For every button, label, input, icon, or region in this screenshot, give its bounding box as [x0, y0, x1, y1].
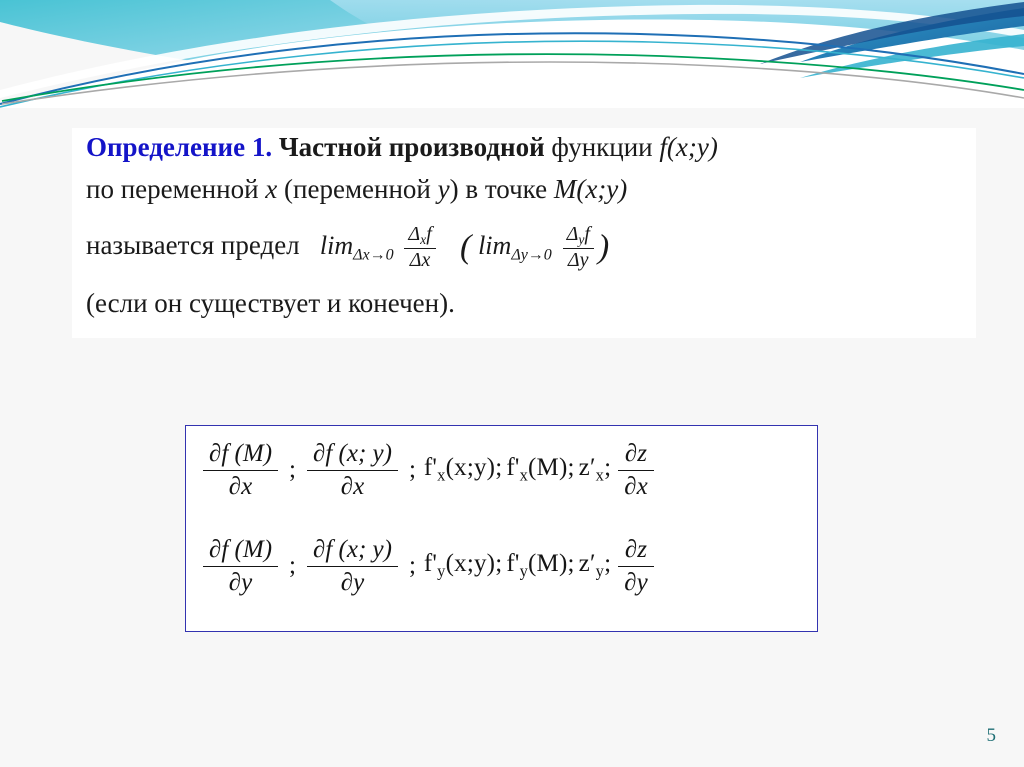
notation-z-prime-x: z′x;	[579, 454, 612, 485]
f-prime-base: f'	[506, 454, 519, 481]
partial-z-over-x: ∂z ∂x	[618, 440, 653, 500]
delta-symbol: Δ	[408, 223, 420, 245]
f-prime-base: f'	[424, 454, 437, 481]
variable-y: y	[438, 174, 450, 204]
separator-semicolon: ;	[405, 456, 420, 484]
fraction-numerator: ∂f (M)	[203, 536, 278, 567]
delta-symbol: Δ	[567, 223, 579, 245]
fraction-delta-x: Δxf Δx	[404, 224, 435, 271]
notation-row-y: ∂f (M) ∂y ; ∂f (x; y) ∂y ; f'y(x;y); f'y…	[200, 536, 657, 596]
subscript-y: y	[520, 562, 528, 581]
fraction-denominator: ∂x	[618, 471, 653, 501]
partial-f-M-over-x: ∂f (M) ∂x	[203, 440, 278, 500]
f-prime-base: f'	[506, 550, 519, 577]
definition-line2-before: по переменной	[86, 174, 259, 204]
fraction-denominator: ∂y	[307, 567, 398, 597]
definition-line-1: Определение 1. Частной производной функц…	[86, 134, 718, 161]
arguments: ;	[604, 550, 611, 577]
fraction-numerator: ∂f (x; y)	[307, 536, 398, 567]
fraction-numerator: Δyf	[563, 224, 594, 249]
notation-row-x: ∂f (M) ∂x ; ∂f (x; y) ∂x ; f'x(x;y); f'x…	[200, 440, 657, 500]
fraction-numerator: ∂z	[618, 536, 653, 567]
variable-x: x	[265, 174, 277, 204]
definition-plain-word: функции	[551, 132, 652, 162]
point-symbol: M(x;y)	[554, 174, 627, 204]
limit-subscript-y: Δy→0	[511, 246, 552, 263]
page-number: 5	[987, 725, 997, 747]
function-f: f	[584, 223, 590, 245]
definition-function-symbol: f(x;y)	[659, 132, 717, 162]
definition-label: Определение 1.	[86, 132, 272, 162]
open-paren: (	[460, 229, 471, 266]
limit-operator-y: lim	[478, 231, 511, 260]
partial-f-M-over-y: ∂f (M) ∂y	[203, 536, 278, 596]
limit-lead-text: называется предел	[86, 230, 300, 260]
definition-line-2: по переменной x (переменной y) в точке M…	[86, 176, 627, 203]
separator-semicolon: ;	[285, 456, 300, 484]
subscript-x: x	[437, 466, 445, 485]
partial-f-xy-over-x: ∂f (x; y) ∂x	[307, 440, 398, 500]
notation-f-prime-y-of-xy: f'y(x;y);	[424, 550, 502, 581]
fraction-numerator: Δxf	[404, 224, 435, 249]
arguments: (M);	[528, 454, 575, 481]
fraction-numerator: ∂f (x; y)	[307, 440, 398, 471]
fraction-denominator: Δy	[563, 249, 594, 271]
fraction-denominator: ∂x	[307, 471, 398, 501]
limit-operator-x: lim	[320, 231, 353, 260]
fraction-denominator: Δx	[404, 249, 435, 271]
close-paren: )	[598, 229, 609, 266]
fraction-denominator: ∂x	[203, 471, 278, 501]
fraction-numerator: ∂f (M)	[203, 440, 278, 471]
arguments: (x;y);	[446, 454, 503, 481]
notation-f-prime-x-of-M: f'x(M);	[506, 454, 574, 485]
limit-expression-y: limΔy→0 Δyf Δy	[478, 224, 598, 271]
definition-term: Частной производной	[279, 132, 545, 162]
definition-line2-after: ) в точке	[450, 174, 548, 204]
limit-expression-x: limΔx→0 Δxf Δx	[320, 224, 440, 271]
subscript-x: x	[520, 466, 528, 485]
subscript-y: y	[437, 562, 445, 581]
notation-z-prime-y: z′y;	[579, 550, 612, 581]
definition-line-4: (если он существует и конечен).	[86, 290, 455, 317]
definition-line2-middle: (переменной	[284, 174, 431, 204]
definition-line-3: называется предел limΔx→0 Δxf Δx ( limΔy…	[86, 224, 609, 271]
fraction-numerator: ∂z	[618, 440, 653, 471]
fraction-denominator: ∂y	[203, 567, 278, 597]
fraction-denominator: ∂y	[618, 567, 653, 597]
subscript-y: y	[596, 562, 604, 581]
partial-z-over-y: ∂z ∂y	[618, 536, 653, 596]
separator-semicolon: ;	[405, 552, 420, 580]
subscript-x: x	[596, 466, 604, 485]
presentation-slide: Определение 1. Частной производной функц…	[0, 0, 1024, 767]
z-prime-base: z′	[579, 550, 596, 577]
arguments: (M);	[528, 550, 575, 577]
arguments: (x;y);	[446, 550, 503, 577]
arguments: ;	[604, 454, 611, 481]
separator-semicolon: ;	[285, 552, 300, 580]
limit-subscript-x: Δx→0	[353, 246, 394, 263]
partial-f-xy-over-y: ∂f (x; y) ∂y	[307, 536, 398, 596]
f-prime-base: f'	[424, 550, 437, 577]
fraction-delta-y: Δyf Δy	[563, 224, 594, 271]
notation-f-prime-x-of-xy: f'x(x;y);	[424, 454, 502, 485]
function-f: f	[426, 223, 432, 245]
z-prime-base: z′	[579, 454, 596, 481]
notation-formula-box: ∂f (M) ∂x ; ∂f (x; y) ∂x ; f'x(x;y); f'x…	[185, 425, 818, 632]
notation-f-prime-y-of-M: f'y(M);	[506, 550, 574, 581]
definition-text-block: Определение 1. Частной производной функц…	[72, 128, 976, 338]
decorative-wave-banner	[0, 0, 1024, 108]
